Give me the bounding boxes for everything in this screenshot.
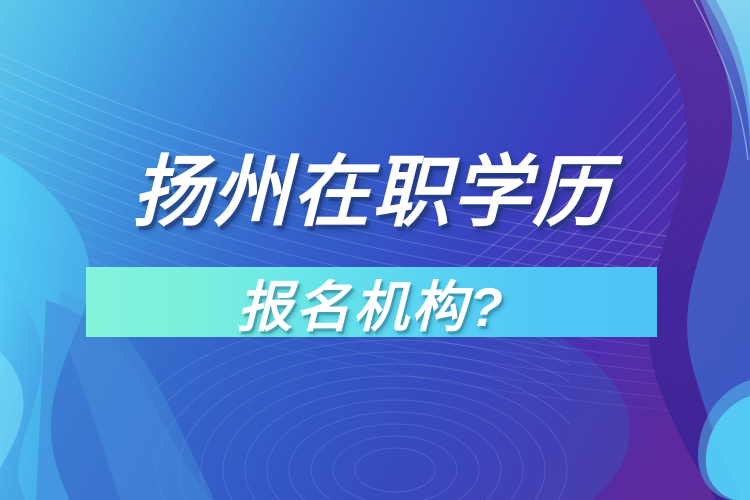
page-subtitle: 报名机构? — [86, 267, 657, 337]
promo-banner: 扬州在职学历 报名机构? — [0, 0, 750, 500]
title-block: 扬州在职学历 报名机构? — [0, 0, 750, 500]
page-title: 扬州在职学历 — [132, 146, 632, 238]
